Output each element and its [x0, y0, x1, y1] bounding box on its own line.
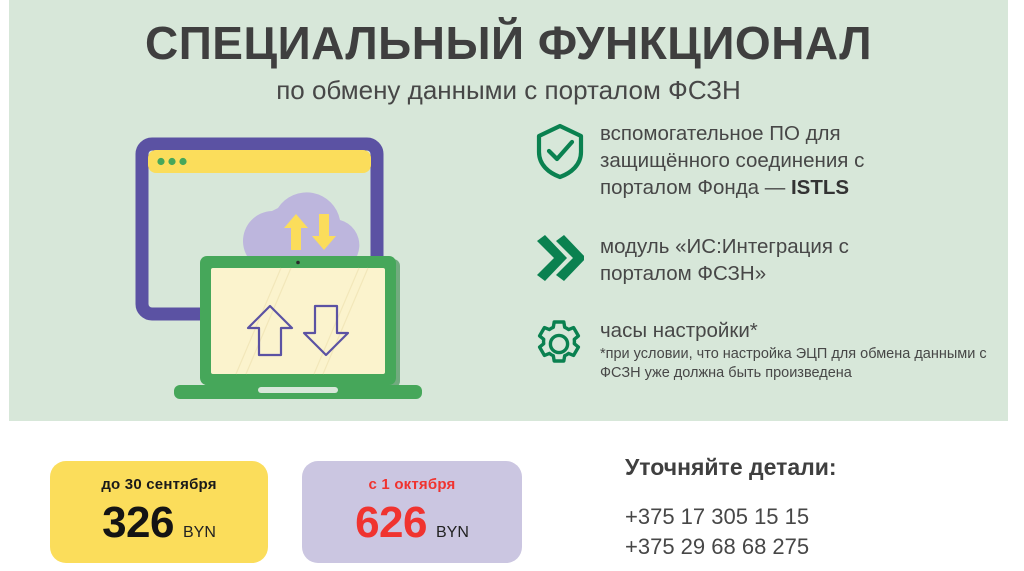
page-title: СПЕЦИАЛЬНЫЙ ФУНКЦИОНАЛ: [9, 16, 1008, 70]
price-currency: BYN: [436, 524, 469, 542]
gear-icon: [534, 317, 600, 369]
page-title-block: СПЕЦИАЛЬНЫЙ ФУНКЦИОНАЛ по обмену данными…: [9, 16, 1008, 106]
feature-item-istls: вспомогательное ПО для защищённого соеди…: [534, 120, 1004, 201]
contacts-block: Уточняйте детали: +375 17 305 15 15 +375…: [625, 452, 1005, 562]
feature-line-2: порталом ФСЗН»: [600, 262, 766, 285]
contacts-title: Уточняйте детали:: [625, 452, 1005, 482]
feature-text-module: модуль «ИС:Интеграция с порталом ФСЗН»: [600, 233, 1004, 287]
page-subtitle: по обмену данными с порталом ФСЗН: [9, 74, 1008, 106]
data-exchange-illustration: [118, 128, 428, 403]
price-card-september[interactable]: до 30 сентября 326 BYN: [50, 461, 268, 563]
price-card-october[interactable]: с 1 октября 626 BYN: [302, 461, 522, 563]
feature-line-1: вспомогательное ПО для: [600, 122, 841, 145]
price-amount-row: 626 BYN: [302, 499, 522, 547]
feature-item-setup-hours: часы настройки* *при условии, что настро…: [534, 317, 1004, 382]
contact-phone-landline[interactable]: +375 17 305 15 15: [625, 502, 1005, 532]
feature-footnote: *при условии, что настройка ЭЦП для обме…: [600, 345, 1004, 382]
price-card-caption: с 1 октября: [302, 461, 522, 493]
price-currency: BYN: [183, 524, 216, 542]
laptop-icon: [174, 256, 422, 399]
double-chevron-right-icon: [534, 233, 600, 281]
feature-line-1: модуль «ИС:Интеграция с: [600, 235, 849, 258]
feature-title-setup-hours: часы настройки*: [600, 319, 758, 342]
feature-line-3: порталом Фонда —: [600, 176, 791, 199]
price-amount: 626: [355, 499, 427, 547]
feature-list: вспомогательное ПО для защищённого соеди…: [534, 120, 1004, 382]
feature-line-2: защищённого соединения с: [600, 149, 864, 172]
feature-keyword-istls: ISTLS: [791, 176, 849, 199]
price-card-caption: до 30 сентября: [50, 461, 268, 493]
contact-phone-mobile[interactable]: +375 29 68 68 275: [625, 532, 1005, 562]
poster-root: СПЕЦИАЛЬНЫЙ ФУНКЦИОНАЛ по обмену данными…: [0, 0, 1024, 571]
feature-item-module: модуль «ИС:Интеграция с порталом ФСЗН»: [534, 233, 1004, 287]
feature-text-istls: вспомогательное ПО для защищённого соеди…: [600, 120, 1004, 201]
price-amount: 326: [102, 499, 174, 547]
price-amount-row: 326 BYN: [50, 499, 268, 547]
shield-check-icon: [534, 120, 600, 180]
feature-text-setup-hours: часы настройки* *при условии, что настро…: [600, 317, 1004, 382]
